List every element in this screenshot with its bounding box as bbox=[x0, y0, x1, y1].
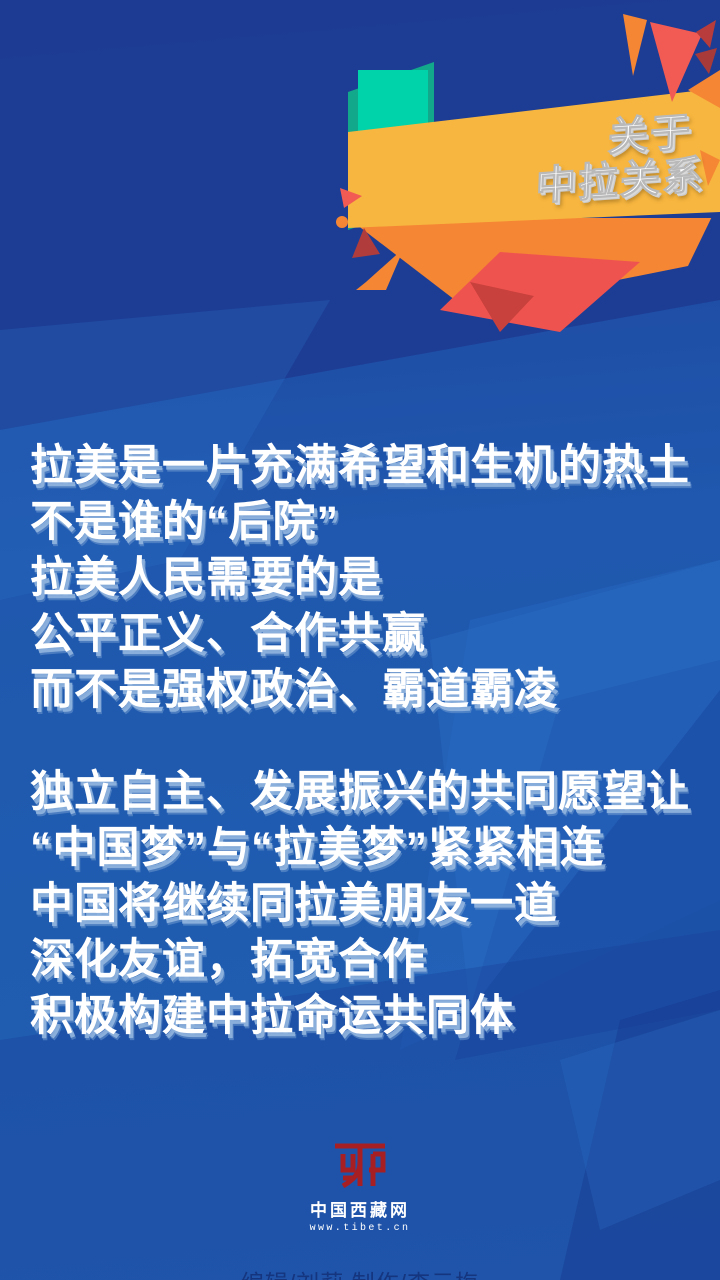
paragraph-1: 拉美是一片充满希望和生机的热土 不是谁的“后院” 拉美人民需要的是 公平正义、合… bbox=[30, 438, 700, 718]
tibet-seal-logo-icon bbox=[329, 1140, 391, 1192]
credits-line: 编辑/刘莉 制作/李元梅 bbox=[0, 1264, 720, 1280]
body-line: 拉美是一片充满希望和生机的热土 bbox=[30, 438, 700, 494]
body-line: 中国将继续同拉美朋友一道 bbox=[30, 876, 700, 932]
body-line: 而不是强权政治、霸道霸凌 bbox=[30, 662, 700, 718]
body-copy: 拉美是一片充满希望和生机的热土 不是谁的“后院” 拉美人民需要的是 公平正义、合… bbox=[30, 438, 700, 1044]
site-name: 中国西藏网 bbox=[0, 1196, 720, 1221]
site-url: www.tibet.cn bbox=[0, 1223, 720, 1234]
footer: 中国西藏网 www.tibet.cn 编辑/刘莉 制作/李元梅 bbox=[0, 1140, 720, 1280]
body-line: “中国梦”与“拉美梦”紧紧相连 bbox=[30, 820, 700, 876]
poster-title: 关于 中拉关系 bbox=[348, 88, 720, 228]
body-line: 积极构建中拉命运共同体 bbox=[30, 988, 700, 1044]
body-line: 公平正义、合作共赢 bbox=[30, 606, 700, 662]
title-line-2: 中拉关系 bbox=[535, 151, 706, 211]
body-line: 拉美人民需要的是 bbox=[30, 550, 700, 606]
paragraph-2: 独立自主、发展振兴的共同愿望让 “中国梦”与“拉美梦”紧紧相连 中国将继续同拉美… bbox=[30, 764, 700, 1044]
orange-dot-icon bbox=[336, 216, 348, 228]
body-line: 独立自主、发展振兴的共同愿望让 bbox=[30, 764, 700, 820]
body-line: 深化友谊，拓宽合作 bbox=[30, 932, 700, 988]
poster-canvas: 关于 中拉关系 拉美是一片充满希望和生机的热土 不是谁的“后院” 拉美人民需要的… bbox=[0, 0, 720, 1280]
body-line: 不是谁的“后院” bbox=[30, 494, 700, 550]
